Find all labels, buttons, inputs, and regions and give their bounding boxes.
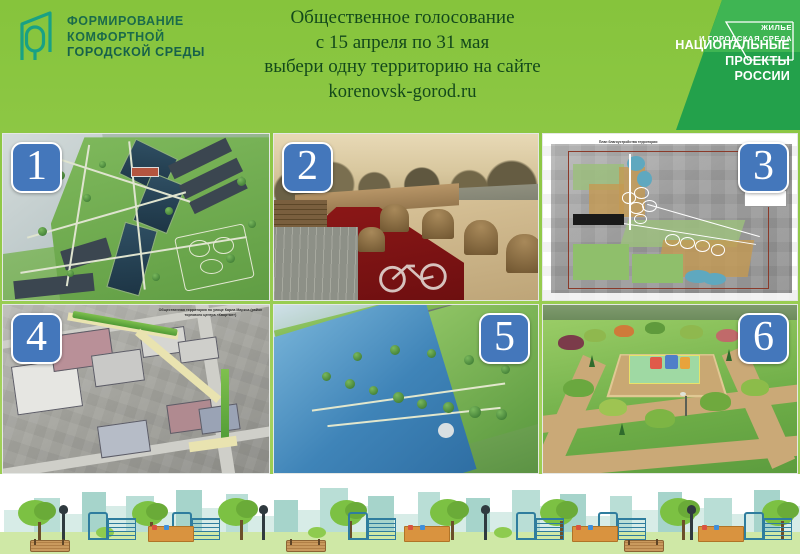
footer-lamp-post [484,512,487,540]
footer-city-park-illustration [0,474,800,554]
tile-number-badge-6[interactable]: 6 [738,313,789,364]
np-title-line-2: ПРОЕКТЫ [675,54,790,70]
territory-tile-6[interactable]: 6 [542,304,798,474]
tile-4-caption: Общественная территория по улице Карла М… [152,308,269,317]
tile-number-badge-2[interactable]: 2 [282,142,333,193]
territory-tile-4[interactable]: Общественная территория по улице Карла М… [2,304,270,474]
footer-lamp-post [262,512,265,540]
voting-poster: ФОРМИРОВАНИЕ КОМФОРТНОЙ ГОРОДСКОЙ СРЕДЫ … [0,0,800,554]
brand-line-3: ГОРОДСКОЙ СРЕДЫ [67,45,205,61]
np-title-line-3: РОССИИ [675,69,790,85]
footer-playground [516,514,568,540]
territory-grid: 1 [2,133,798,474]
tile-3-plan-title: План благоустройства территории [599,140,658,144]
footer-lamp-post [62,512,65,540]
fks-brand: ФОРМИРОВАНИЕ КОМФОРТНОЙ ГОРОДСКОЙ СРЕДЫ [12,10,205,62]
tile-number-badge-4[interactable]: 4 [11,313,62,364]
np-title: НАЦИОНАЛЬНЫЕ ПРОЕКТЫ РОССИИ [675,38,790,85]
headline-line-2: с 15 апреля по 31 мая [230,31,575,56]
footer-playground [744,514,796,540]
headline-line-1: Общественное голосование [230,6,575,31]
headline-line-3: выбери одну территорию на сайте [230,55,575,80]
tile-number-badge-1[interactable]: 1 [11,142,62,193]
poster-header: ФОРМИРОВАНИЕ КОМФОРТНОЙ ГОРОДСКОЙ СРЕДЫ … [0,0,800,130]
territory-tile-3[interactable]: План благоустройства территории [542,133,798,301]
brand-line-2: КОМФОРТНОЙ [67,30,205,46]
national-projects-logo: ЖИЛЬЕ И ГОРОДСКАЯ СРЕДА НАЦИОНАЛЬНЫЕ ПРО… [652,0,800,130]
footer-lamp-post [690,512,693,540]
footer-playground [88,514,140,540]
fks-brand-text: ФОРМИРОВАНИЕ КОМФОРТНОЙ ГОРОДСКОЙ СРЕДЫ [67,10,205,61]
np-subtitle-line-1: ЖИЛЬЕ [699,22,792,33]
bicycle-lane-marking-icon [374,254,453,294]
headline-block: Общественное голосование с 15 апреля по … [230,6,575,104]
territory-tile-5[interactable]: 5 [273,304,539,474]
voting-site-url[interactable]: korenovsk-gorod.ru [230,80,575,105]
tile-number-badge-5[interactable]: 5 [479,313,530,364]
territory-tile-1[interactable]: 1 [2,133,270,301]
brand-line-1: ФОРМИРОВАНИЕ [67,14,205,30]
footer-bush [494,527,512,538]
np-title-line-1: НАЦИОНАЛЬНЫЕ [675,38,790,54]
tile-number-badge-3[interactable]: 3 [738,142,789,193]
house-window-logo-icon [12,10,58,62]
footer-bush [308,527,326,538]
footer-playground [348,514,400,540]
territory-tile-2[interactable]: 2 [273,133,539,301]
